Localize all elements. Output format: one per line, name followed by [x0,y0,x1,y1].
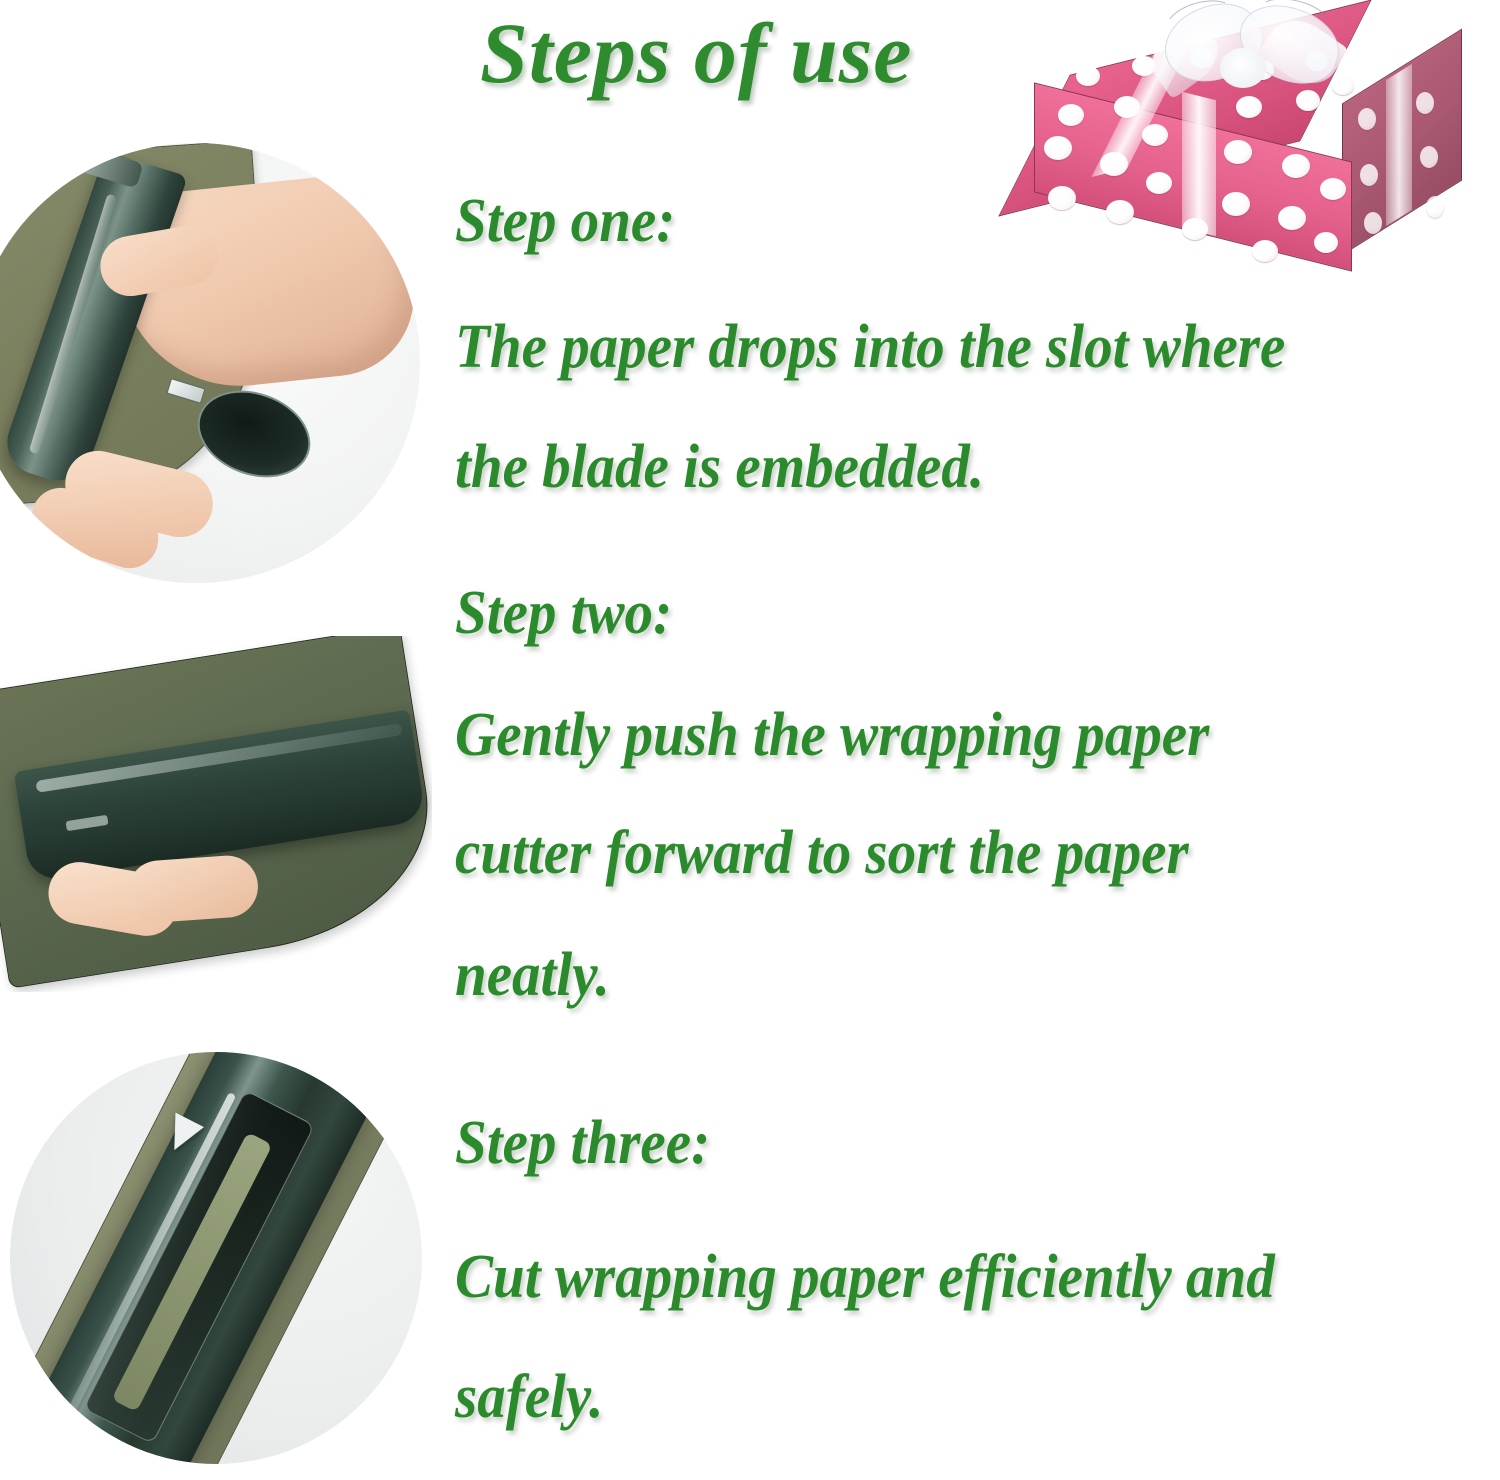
polka-dot [1044,136,1072,160]
polka-dot [1076,66,1100,86]
step-one-line-1: The paper drops into the slot where [455,312,1285,383]
step-three-heading: Step three: [455,1108,710,1179]
gift-ribbon-front [1182,92,1216,236]
step-two-line-1: Gently push the wrapping paper [455,700,1209,771]
polka-dot [1332,76,1354,95]
step-two-line-3: neatly. [455,940,610,1011]
polka-dot [1358,108,1376,130]
step-one-line-2: the blade is embedded. [455,432,984,503]
polka-dot [1048,186,1076,210]
step-one-heading: Step one: [455,186,675,257]
polka-dot [1236,96,1262,118]
polka-dot [1058,104,1084,126]
step-two-line-2: cutter forward to sort the paper [455,818,1189,889]
polka-dot [1416,92,1434,114]
polka-dot [1364,212,1382,234]
polka-dot [1146,172,1172,194]
infographic-page: Steps of use [0,0,1500,1480]
gift-ribbon-side [1386,64,1412,226]
polka-dot [1222,192,1250,216]
finger [126,854,260,925]
page-title: Steps of use [480,8,1040,98]
polka-dot [1224,140,1252,164]
polka-dot [1426,196,1444,218]
step-three-photo [10,1052,422,1464]
step-two-heading: Step two: [455,578,672,649]
ribbon-bow-knot [1220,48,1266,88]
step-one-photo [0,143,420,583]
polka-dot [1106,200,1134,224]
step-three-line-1: Cut wrapping paper efficiently and [455,1242,1275,1313]
polka-dot [1252,240,1278,262]
step-two-photo [0,636,432,992]
polka-dot [1296,90,1320,111]
pink-polka-dot-gift-box [1014,0,1496,292]
polka-dot [1278,206,1306,230]
polka-dot [1320,178,1346,200]
step-three-line-2: safely. [455,1362,603,1433]
polka-dot [1360,164,1378,186]
polka-dot [1282,154,1310,178]
polka-dot [1420,146,1438,168]
polka-dot [1314,232,1338,253]
